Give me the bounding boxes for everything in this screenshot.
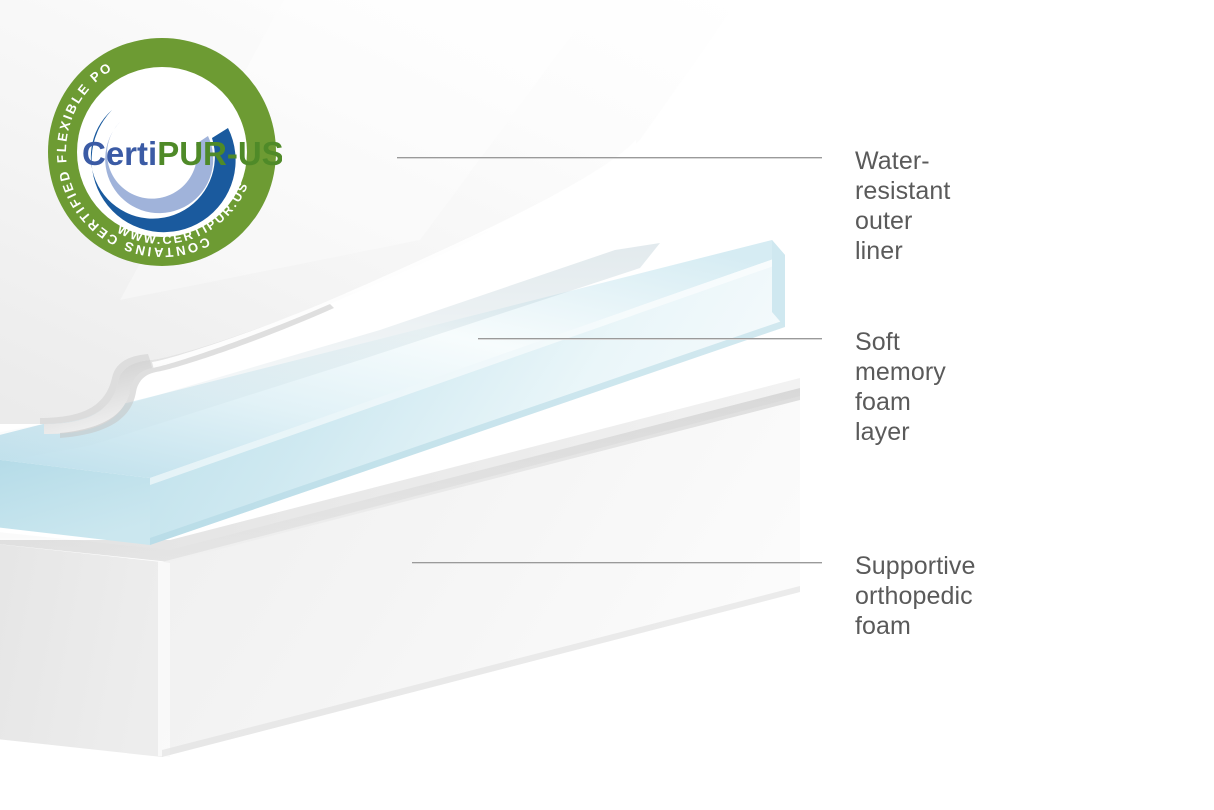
callout-label-outer-liner: Water-resistant outer liner: [855, 146, 950, 266]
callout-leader-line-support-foam: [412, 562, 822, 564]
callout-label-support-foam: Supportive orthopedic foam: [855, 551, 976, 641]
mattress-layers-diagram: CONTAINS CERTIFIED FLEXIBLE POLYURETHANE…: [0, 0, 1214, 810]
callout-leader-line-outer-liner: [397, 157, 822, 159]
certipur-us-badge: CONTAINS CERTIFIED FLEXIBLE POLYURETHANE…: [42, 32, 282, 272]
callout-leader-line-memory-foam: [478, 338, 822, 340]
callout-label-memory-foam: Soft memory foam layer: [855, 327, 946, 447]
badge-wordmark: CertiPUR-US®: [82, 135, 282, 172]
